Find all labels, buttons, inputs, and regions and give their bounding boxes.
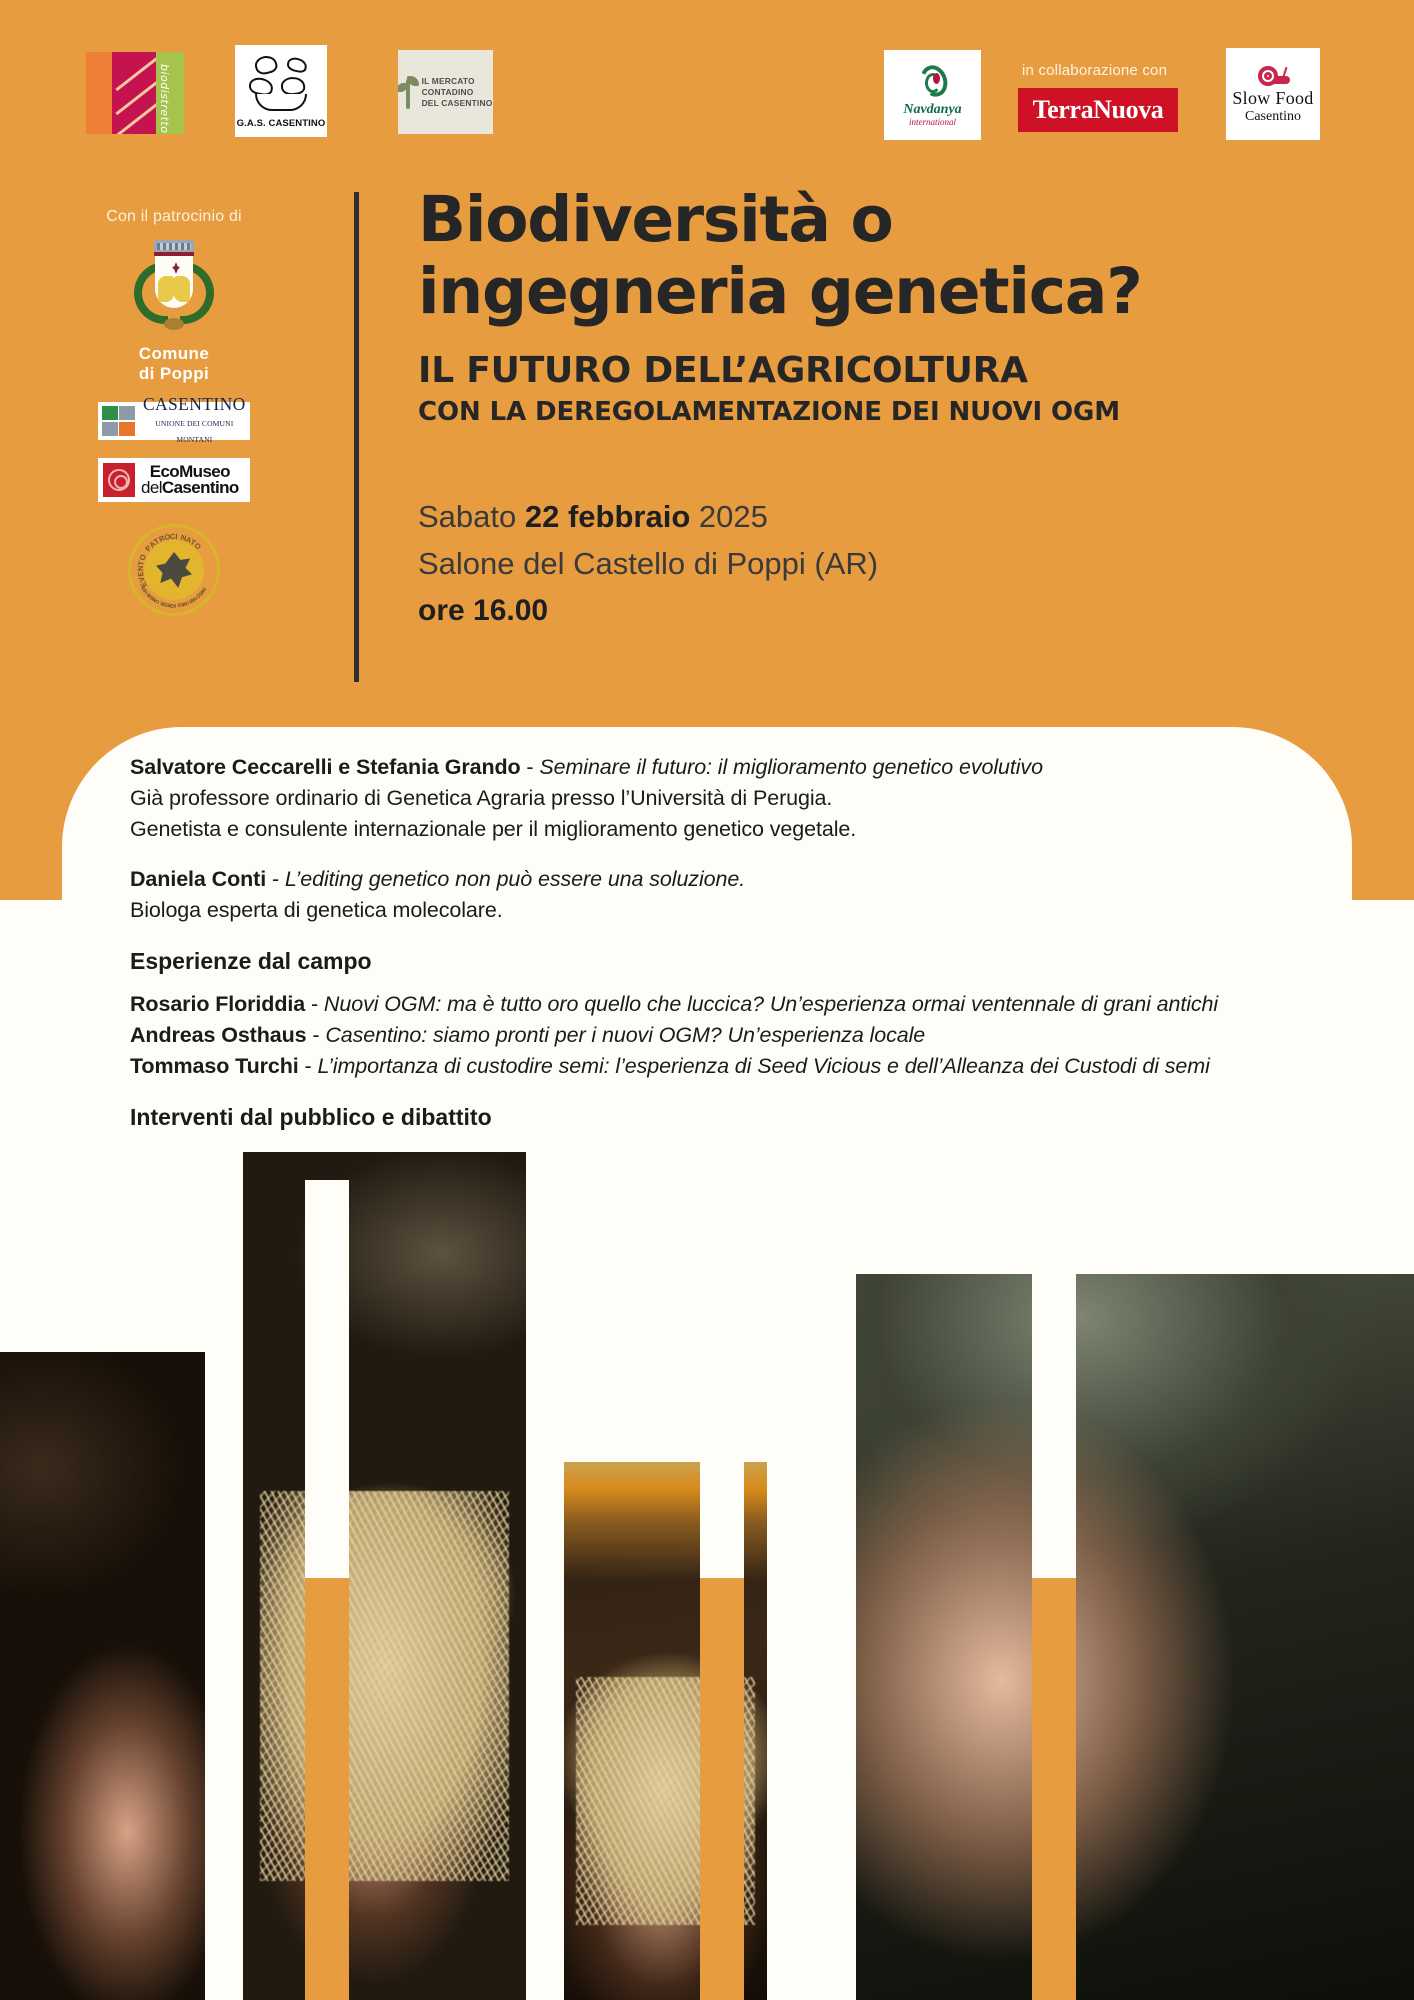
title-line-1: Biodiversità o bbox=[418, 183, 893, 256]
section-heading-interventi: Interventi dal pubblico e dibattito bbox=[130, 1101, 1340, 1133]
casentino-subtitle: UNIONE DEI COMUNI MONTANI bbox=[155, 419, 233, 444]
field-talk: Nuovi OGM: ma è tutto oro quello che luc… bbox=[324, 992, 1218, 1016]
field-experience-row: Andreas Osthaus - Casentino: siamo pront… bbox=[130, 1020, 1340, 1051]
event-date-line: Sabato 22 febbraio 2025 bbox=[418, 493, 1318, 540]
comune-line-2: di Poppi bbox=[139, 364, 209, 383]
orange-divider-bar-2 bbox=[700, 1578, 744, 2000]
biodistretto-wordmark: biodistretto bbox=[159, 64, 170, 134]
mercato-line-3: DEL CASENTINO bbox=[422, 98, 493, 108]
slow-food-casentino-logo: Slow Food Casentino bbox=[1226, 48, 1320, 140]
event-date-suffix: 2025 bbox=[699, 499, 768, 534]
speaker-name: Salvatore Ceccarelli e Stefania Grando bbox=[130, 755, 521, 779]
birds-bowl-icon bbox=[243, 54, 319, 116]
event-date-bold: 22 febbraio bbox=[525, 499, 690, 534]
speaker-talk: L’editing genetico non può essere una so… bbox=[285, 867, 745, 891]
field-talk: Casentino: siamo pronti per i nuovi OGM?… bbox=[325, 1023, 925, 1047]
terranuova-wordmark: TerraNuova bbox=[1033, 95, 1164, 125]
photo-hand-seeds-tall bbox=[243, 1152, 526, 2000]
photo-hands-seeds-right bbox=[856, 1274, 1414, 2000]
slow-food-title: Slow Food bbox=[1232, 88, 1313, 109]
field-experience-row: Rosario Floriddia - Nuovi OGM: ma è tutt… bbox=[130, 989, 1340, 1020]
unione-comuni-montani-logo: CASENTINO UNIONE DEI COMUNI MONTANI bbox=[98, 402, 250, 440]
ecomuseo-line-2-prefix: del bbox=[141, 478, 162, 497]
navdanya-title: Navdanya bbox=[903, 103, 961, 117]
mercato-contadino-logo: IL MERCATO CONTADINO DEL CASENTINO bbox=[398, 50, 493, 134]
patronage-column: Con il patrocinio di Comune di Poppi CAS… bbox=[86, 208, 262, 616]
field-dash: - bbox=[307, 1023, 326, 1047]
comune-di-poppi-logo: Comune di Poppi bbox=[86, 240, 262, 384]
page-title: Biodiversità o ingegneria genetica? bbox=[418, 184, 1318, 328]
field-experience-row: Tommaso Turchi - L’importanza di custodi… bbox=[130, 1051, 1340, 1082]
section-heading-esperienze: Esperienze dal campo bbox=[130, 945, 1340, 977]
speaker-bio-line: Genetista e consulente internazionale pe… bbox=[130, 814, 1340, 845]
field-speaker-name: Rosario Floriddia bbox=[130, 992, 305, 1016]
orange-divider-bar-1 bbox=[305, 1578, 349, 2000]
speaker-bio-line: Già professore ordinario di Genetica Agr… bbox=[130, 783, 1340, 814]
gas-casentino-logo: G.A.S. CASENTINO bbox=[235, 45, 327, 137]
speaker-row: Salvatore Ceccarelli e Stefania Grando -… bbox=[130, 752, 1340, 783]
title-line-2: ingegneria genetica? bbox=[418, 255, 1142, 328]
photo-gap-2 bbox=[700, 1180, 744, 1578]
speaker-bio-line: Biologa esperta di genetica molecolare. bbox=[130, 895, 1340, 926]
event-date-prefix: Sabato bbox=[418, 499, 516, 534]
navdanya-subtitle: international bbox=[909, 117, 956, 127]
mercato-line-2: CONTADINO bbox=[422, 87, 474, 97]
title-block: Biodiversità o ingegneria genetica? IL F… bbox=[418, 184, 1318, 634]
field-dash: - bbox=[305, 992, 324, 1016]
patronage-label: Con il patrocinio di bbox=[86, 208, 262, 226]
navdanya-international-logo: Navdanya international bbox=[884, 50, 981, 140]
casentino-quadrant-icon bbox=[102, 406, 135, 436]
speaker-dash: - bbox=[266, 867, 285, 891]
event-time: ore 16.00 bbox=[418, 587, 1318, 634]
subtitle-secondary: CON LA DEREGOLAMENTAZIONE DEI NUOVI OGM bbox=[418, 397, 1318, 427]
photo-gap-1 bbox=[305, 1180, 349, 1578]
field-talk: L’importanza di custodire semi: l’esperi… bbox=[317, 1054, 1209, 1078]
slow-food-subtitle: Casentino bbox=[1245, 109, 1301, 125]
collaboration-label: in collaborazione con bbox=[1022, 62, 1167, 79]
snail-icon bbox=[1256, 64, 1290, 88]
casentino-title: CASENTINO bbox=[143, 394, 246, 414]
title-divider-rule bbox=[354, 192, 359, 682]
ecomuseo-line-2: Casentino bbox=[162, 478, 239, 497]
subtitle-primary: IL FUTURO DELL’AGRICOLTURA bbox=[418, 350, 1318, 391]
ecomuseo-del-casentino-logo: EcoMuseo delCasentino bbox=[98, 458, 250, 502]
sprout-icon bbox=[399, 75, 417, 109]
event-details: Sabato 22 febbraio 2025 Salone del Caste… bbox=[418, 493, 1318, 634]
field-speaker-name: Andreas Osthaus bbox=[130, 1023, 307, 1047]
speaker-talk: Seminare il futuro: il miglioramento gen… bbox=[539, 755, 1043, 779]
field-speaker-name: Tommaso Turchi bbox=[130, 1054, 299, 1078]
sponsor-logo-row: biodistretto G.A.S. CASENTINO IL MERCATO… bbox=[0, 0, 1414, 160]
mercato-line-1: IL MERCATO bbox=[422, 76, 475, 86]
speaker-row: Daniela Conti - L’editing genetico non p… bbox=[130, 864, 1340, 895]
poppi-coat-of-arms-icon bbox=[128, 240, 220, 336]
spiral-icon bbox=[103, 463, 135, 497]
event-venue: Salone del Castello di Poppi (AR) bbox=[418, 540, 1318, 587]
photo-hand-dark-left bbox=[0, 1352, 205, 2000]
comune-line-1: Comune bbox=[139, 344, 209, 363]
field-dash: - bbox=[299, 1054, 318, 1078]
evento-patrocinato-seal: EVENTO PATROCINATOPARCO NAZIONALE FOREST… bbox=[128, 524, 220, 616]
photo-gap-3 bbox=[1032, 1180, 1076, 1578]
gas-casentino-caption: G.A.S. CASENTINO bbox=[237, 118, 326, 129]
speaker-dash: - bbox=[521, 755, 540, 779]
navdanya-seed-icon bbox=[913, 63, 953, 103]
terranuova-logo: TerraNuova bbox=[1018, 88, 1178, 132]
orange-divider-bar-3 bbox=[1032, 1578, 1076, 2000]
program-content: Salvatore Ceccarelli e Stefania Grando -… bbox=[130, 752, 1340, 1133]
biodistretto-casentino-logo: biodistretto bbox=[86, 52, 184, 134]
speaker-name: Daniela Conti bbox=[130, 867, 266, 891]
seal-ring-text: EVENTO PATROCINATOPARCO NAZIONALE FOREST… bbox=[128, 524, 220, 616]
